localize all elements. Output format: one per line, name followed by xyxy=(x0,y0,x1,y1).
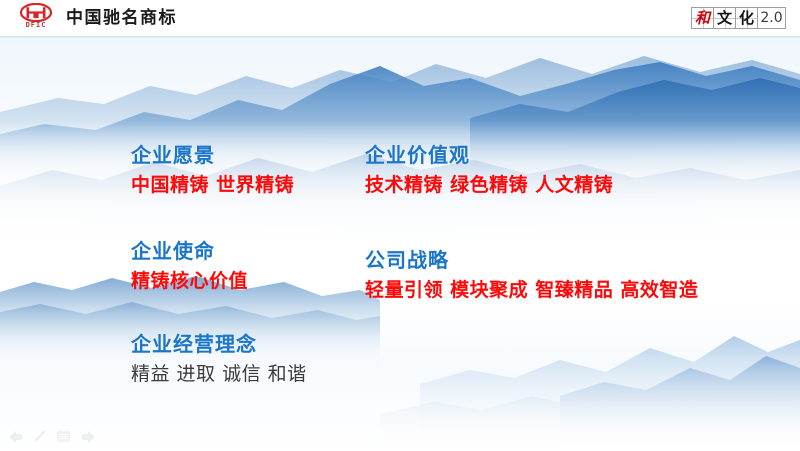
pen-tool-button[interactable] xyxy=(32,429,47,444)
page-title: 中国驰名商标 xyxy=(66,8,177,28)
arrow-left-icon xyxy=(9,431,23,443)
badge-glyph-wen: 文 xyxy=(717,11,732,26)
philosophy-body: 精益 进取 诚信 和谐 xyxy=(131,359,307,389)
block-philosophy: 企业经营理念 精益 进取 诚信 和谐 xyxy=(131,329,307,389)
dfic-oval-emblem-icon xyxy=(20,3,52,22)
slide-header: DFIC 中国驰名商标 和 文 化 2.0 xyxy=(0,0,800,36)
header-divider xyxy=(0,36,800,39)
block-values: 企业价值观 技术精铸 绿色精铸 人文精铸 xyxy=(365,140,698,200)
menu-icon xyxy=(57,431,70,442)
badge-cell-wen: 文 xyxy=(713,7,736,29)
vision-body: 中国精铸 世界精铸 xyxy=(131,170,307,200)
strategy-heading: 公司战略 xyxy=(365,245,698,275)
mission-body: 精铸核心价值 xyxy=(131,266,307,296)
values-body: 技术精铸 绿色精铸 人文精铸 xyxy=(365,170,698,200)
left-column: 企业愿景 中国精铸 世界精铸 企业使命 精铸核心价值 企业经营理念 精益 进取 … xyxy=(131,140,307,411)
badge-glyph-he: 和 xyxy=(695,11,710,26)
vision-heading: 企业愿景 xyxy=(131,140,307,170)
philosophy-heading: 企业经营理念 xyxy=(131,329,307,359)
brand-lockup: DFIC 中国驰名商标 xyxy=(17,3,177,33)
previous-slide-button[interactable] xyxy=(8,429,23,444)
badge-cell-hua: 化 xyxy=(735,7,758,29)
brand-mark: DFIC xyxy=(17,3,55,33)
badge-glyph-hua: 化 xyxy=(739,11,754,26)
badge-version: 2.0 xyxy=(757,7,786,29)
next-slide-button[interactable] xyxy=(80,429,95,444)
values-heading: 企业价值观 xyxy=(365,140,698,170)
right-column: 企业价值观 技术精铸 绿色精铸 人文精铸 公司战略 轻量引领 模块聚成 智臻精品… xyxy=(365,140,698,327)
presenter-nav-bar xyxy=(8,429,95,444)
pen-icon xyxy=(33,430,46,443)
brand-subtext: DFIC xyxy=(26,21,47,29)
block-mission: 企业使命 精铸核心价值 xyxy=(131,236,307,296)
block-strategy: 公司战略 轻量引领 模块聚成 智臻精品 高效智造 xyxy=(365,245,698,305)
mission-heading: 企业使命 xyxy=(131,236,307,266)
badge-cell-he: 和 xyxy=(691,7,714,29)
presentation-slide: DFIC 中国驰名商标 和 文 化 2.0 企业愿景 中国精铸 世界精铸 xyxy=(0,0,800,451)
block-vision: 企业愿景 中国精铸 世界精铸 xyxy=(131,140,307,200)
culture-badge: 和 文 化 2.0 xyxy=(692,7,786,29)
slide-content: 企业愿景 中国精铸 世界精铸 企业使命 精铸核心价值 企业经营理念 精益 进取 … xyxy=(0,36,800,451)
menu-button[interactable] xyxy=(56,429,71,444)
arrow-right-icon xyxy=(81,431,95,443)
strategy-body: 轻量引领 模块聚成 智臻精品 高效智造 xyxy=(365,275,698,305)
